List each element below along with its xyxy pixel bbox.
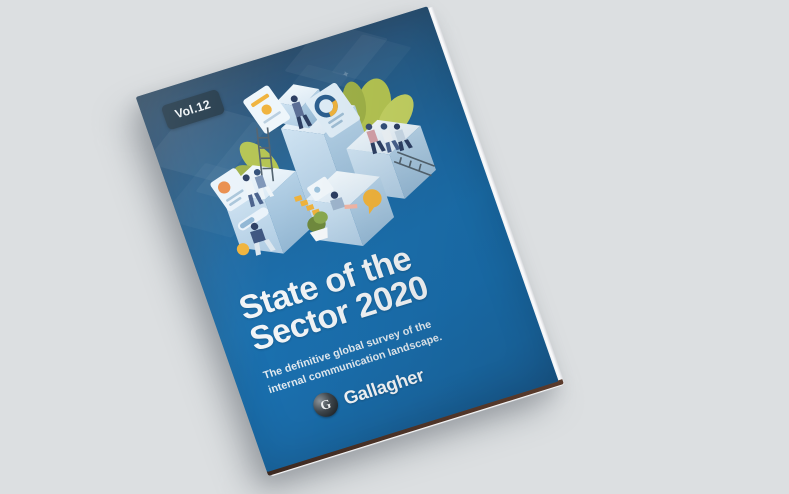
logo-mark-letter: G (318, 397, 332, 413)
book-mockup: ✦ ✦ ✦ Vol.12 (136, 6, 561, 474)
scene-background: ✦ ✦ ✦ Vol.12 (0, 0, 789, 444)
